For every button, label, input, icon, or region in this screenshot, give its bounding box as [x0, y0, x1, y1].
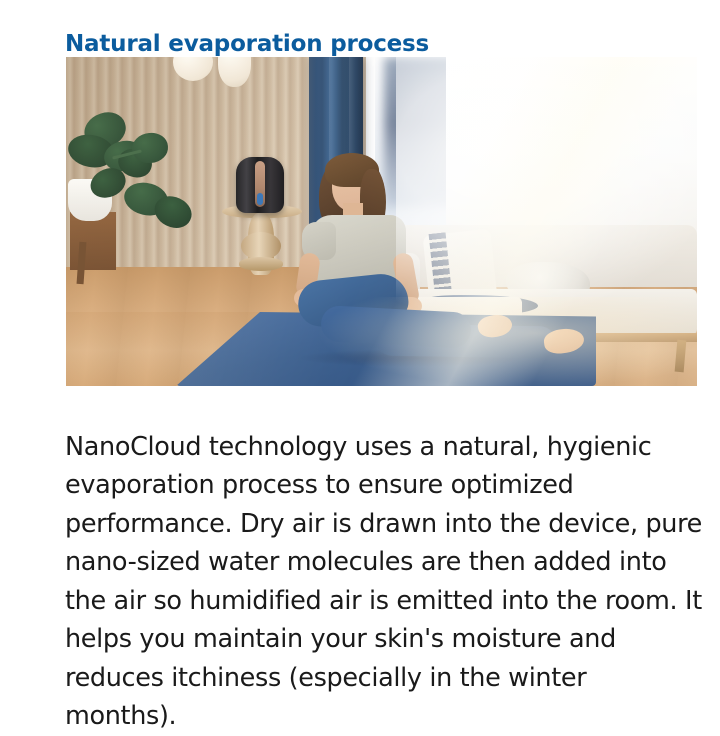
lifestyle-photo: [66, 57, 697, 386]
page-title: Natural evaporation process: [65, 31, 429, 57]
product-feature-panel: Natural evaporation process: [0, 0, 720, 720]
body-paragraph: NanoCloud technology uses a natural, hyg…: [65, 428, 705, 736]
color-grade: [66, 57, 697, 386]
